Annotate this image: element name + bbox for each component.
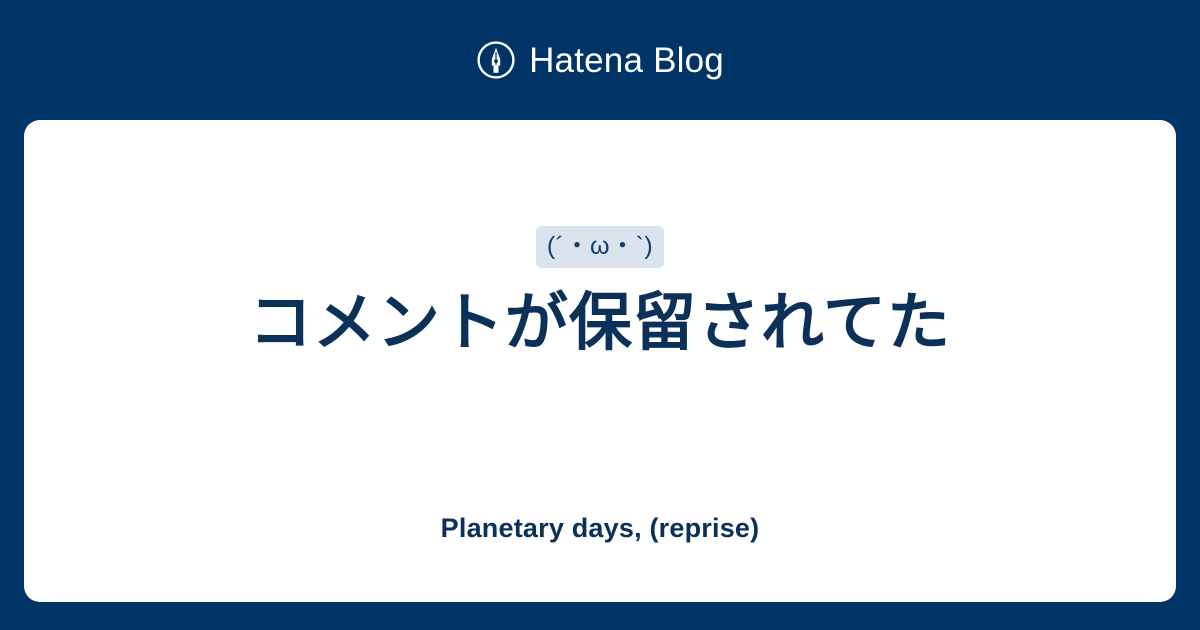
site-header: Hatena Blog <box>0 0 1200 120</box>
entry-title: コメントが保留されてた <box>249 286 951 360</box>
entry-card-footer: Planetary days, (reprise) <box>24 512 1176 602</box>
entry-card: (´・ω・`) コメントが保留されてた Planetary days, (rep… <box>24 120 1176 602</box>
entry-card-body: (´・ω・`) コメントが保留されてた <box>24 120 1176 512</box>
hatena-pen-nib-icon <box>476 40 516 80</box>
service-name: Hatena Blog <box>529 43 724 78</box>
og-image-root: Hatena Blog (´・ω・`) コメントが保留されてた Planetar… <box>0 0 1200 630</box>
blog-name: Planetary days, (reprise) <box>441 512 760 544</box>
entry-badge: (´・ω・`) <box>536 226 664 268</box>
